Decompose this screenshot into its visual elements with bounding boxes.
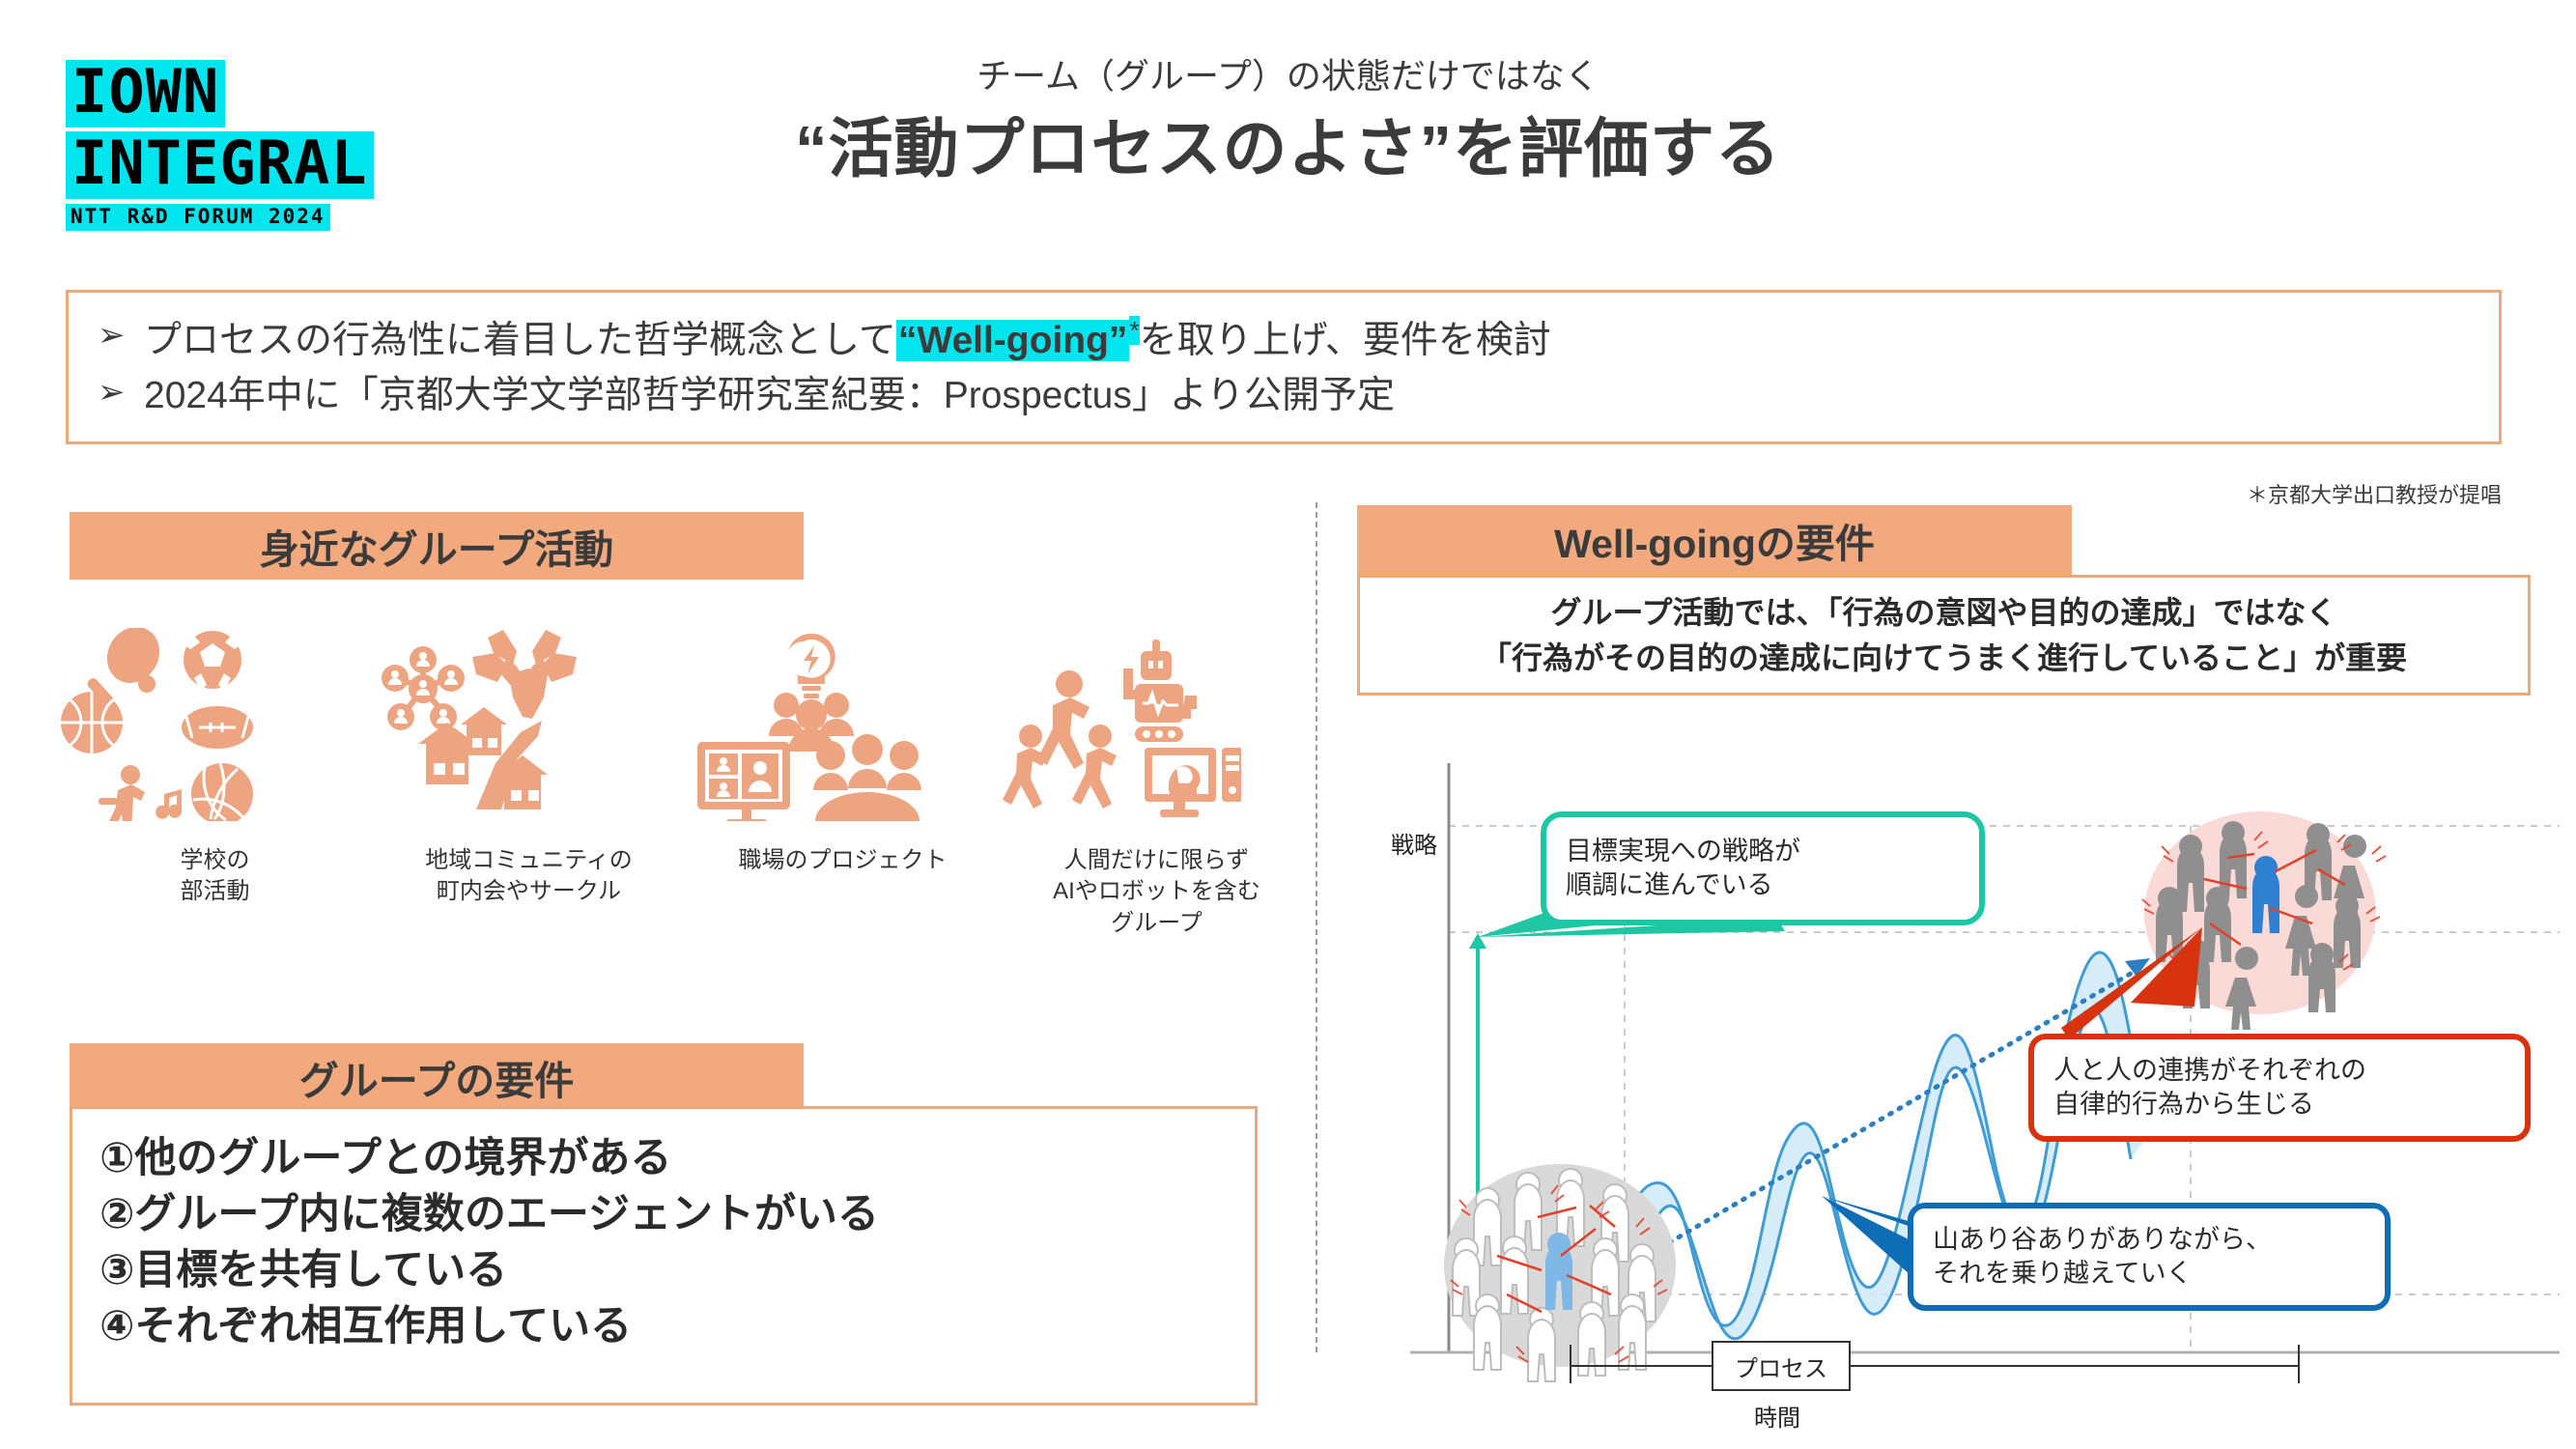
dancing-person-icon — [99, 765, 145, 821]
section-heading-group-requirements: グループの要件 — [70, 1043, 804, 1111]
callout-strategy-progress: 目標実現への戦略が 順調に進んでいる — [1541, 811, 1985, 925]
wellgoing-description-line: 「行為がその目的の達成に向けてうまく進行していること」が重要 — [1481, 636, 2407, 680]
callout-collaboration: 人と人の連携がそれぞれの 自律的行為から生じる — [2028, 1034, 2531, 1142]
rugby-ball-icon — [182, 706, 253, 749]
section-heading-activities: 身近なグループ活動 — [70, 512, 804, 580]
group-blob-start — [1444, 1164, 1676, 1381]
idea-team-icon — [769, 634, 854, 752]
caption-line: 学校の — [181, 845, 250, 876]
activity-caption-workplace: 職場のプロジェクト — [739, 845, 948, 876]
process-span-bracket — [1571, 1345, 2299, 1383]
activity-caption-school-club: 学校の 部活動 — [181, 845, 250, 908]
bullet-1-pre: プロセスの行為性に着目した哲学概念として — [144, 320, 896, 361]
caption-line: 町内会やサークル — [425, 876, 633, 907]
robot-icon — [1123, 639, 1197, 742]
community-icon-group — [372, 628, 686, 845]
activity-caption-community: 地域コミュニティの 町内会やサークル — [425, 845, 633, 908]
activity-cell-school-club: 学校の 部活動 — [58, 628, 372, 966]
caption-line: AIやロボットを含む — [1053, 876, 1260, 907]
wellgoing-asterisk: * — [1129, 316, 1139, 345]
logo-line-forum: NTT R&D FORUM 2024 — [66, 204, 330, 231]
group-requirement-item: ③目標を共有している — [99, 1242, 1228, 1298]
caption-line: 人間だけに限らず — [1053, 845, 1260, 876]
group-requirement-item: ②グループ内に複数のエージェントがいる — [99, 1186, 1228, 1242]
activity-cell-ai-robot: 人間だけに限らず AIやロボットを含む グループ — [1000, 628, 1314, 966]
wellgoing-description-box: グループ活動では、「行為の意図や目的の達成」ではなく 「行為がその目的の達成に向… — [1357, 575, 2531, 696]
bullet-item-2: ➢ 2024年中に「京都大学文学部哲学研究室紀要：Prospectus」より公開… — [98, 371, 2470, 422]
summary-bullet-box: ➢ プロセスの行為性に着目した哲学概念として“Well-going”*を取り上げ… — [66, 290, 2502, 444]
caption-line: 地域コミュニティの — [425, 845, 633, 876]
soccer-ball-icon — [183, 631, 242, 691]
caption-line: 職場のプロジェクト — [739, 845, 948, 876]
music-note-icon — [156, 789, 182, 819]
bullet-1-text: プロセスの行為性に着目した哲学概念として“Well-going”*を取り上げ、要… — [144, 314, 1551, 367]
chart-process-span-label: プロセス — [1712, 1341, 1851, 1391]
bullet-2-text: 2024年中に「京都大学文学部哲学研究室紀要：Prospectus」より公開予定 — [144, 371, 1395, 422]
workplace-icon-group — [686, 628, 1000, 845]
video-call-icon — [697, 742, 790, 821]
wellgoing-highlight: “Well-going” — [896, 320, 1130, 361]
ai-computer-icon — [1145, 748, 1241, 817]
callout-line: 順調に進んでいる — [1566, 868, 1960, 902]
audience-group-icon — [813, 734, 921, 821]
page-title: “活動プロセスのよさ”を評価する — [0, 97, 2576, 190]
callout-ups-and-downs: 山あり谷ありがありながら、 それを乗り越えていく — [1908, 1203, 2391, 1311]
bullet-item-1: ➢ プロセスの行為性に着目した哲学概念として“Well-going”*を取り上げ… — [98, 314, 2470, 367]
vertical-divider — [1316, 502, 1317, 1352]
callout-line: 人と人の連携がそれぞれの — [2053, 1054, 2505, 1088]
callout-line: 目標実現への戦略が — [1566, 835, 1960, 868]
callout-line: 山あり谷ありがありながら、 — [1933, 1223, 2365, 1257]
walking-people-icon — [1003, 670, 1117, 809]
sports-icon-group — [58, 628, 372, 845]
caption-line: 部活動 — [181, 876, 250, 907]
network-people-icon — [382, 646, 465, 730]
group-requirement-item: ④それぞれ相互作用している — [99, 1298, 1228, 1354]
group-requirements-box: ①他のグループとの境界がある ②グループ内に複数のエージェントがいる ③目標を共… — [70, 1106, 1258, 1406]
basketball-icon — [61, 692, 123, 753]
caption-line: グループ — [1053, 908, 1260, 939]
activity-cell-community: 地域コミュニティの 町内会やサークル — [372, 628, 686, 966]
bullet-1-post: を取り上げ、要件を検討 — [1140, 320, 1551, 361]
bullet-marker-icon-2: ➢ — [98, 371, 144, 415]
activity-caption-ai-robot: 人間だけに限らず AIやロボットを含む グループ — [1053, 845, 1260, 939]
wellgoing-description-line: グループ活動では、「行為の意図や目的の達成」ではなく — [1550, 590, 2336, 635]
volleyball-icon — [191, 763, 253, 821]
page-subtitle: チーム（グループ）の状態だけではなく — [0, 48, 2576, 99]
chart-y-axis-label: 戦略 — [1391, 826, 1437, 860]
activity-icon-grid: 学校の 部活動 — [58, 628, 1314, 966]
section-heading-wellgoing-requirements: Well-goingの要件 — [1357, 505, 2072, 575]
bullet-marker-icon: ➢ — [98, 314, 144, 358]
activity-cell-workplace: 職場のプロジェクト — [686, 628, 1000, 966]
callout-line: 自律的行為から生じる — [2053, 1088, 2505, 1122]
group-requirement-item: ①他のグループとの境界がある — [99, 1130, 1228, 1186]
hands-together-icon — [472, 630, 577, 719]
callout-line: それを乗り越えていく — [1933, 1257, 2365, 1291]
chart-x-axis-label: 時間 — [1642, 1399, 1912, 1433]
ai-robot-icon-group — [1000, 628, 1314, 845]
